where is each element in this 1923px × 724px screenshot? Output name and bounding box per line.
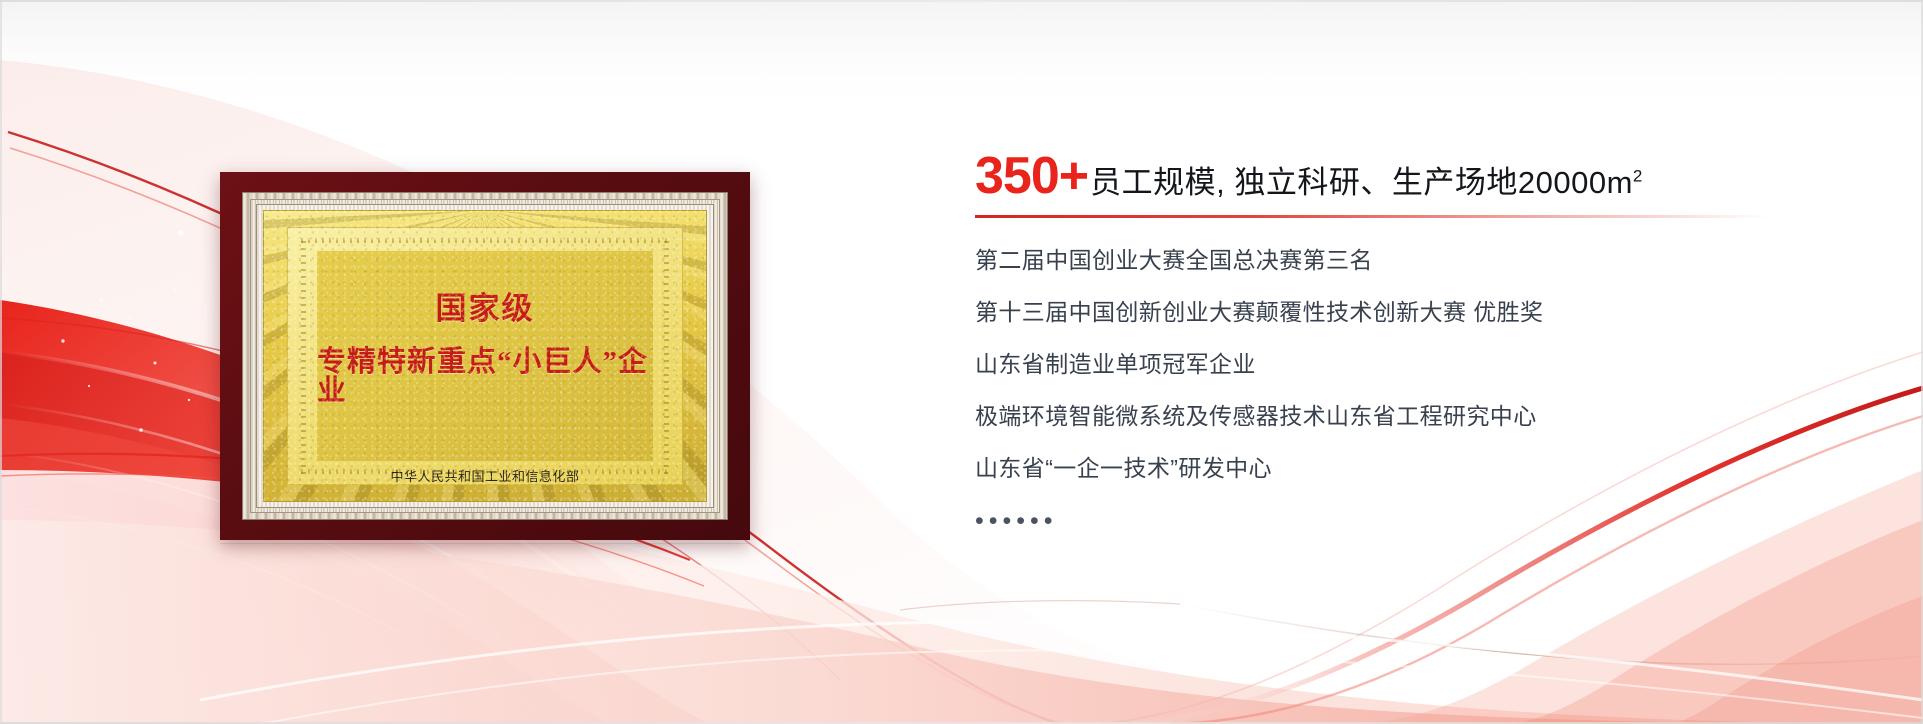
- award-item-2: 第十三届中国创新创业大赛颠覆性技术创新大赛 优胜奖: [975, 301, 1855, 324]
- plaque-gold-plate: 国家级 专精特新重点“小巨人”企业 中华人民共和国工业和信息化部 2024年12…: [263, 210, 707, 502]
- plaque-gold-mat: 国家级 专精特新重点“小巨人”企业 中华人民共和国工业和信息化部 2024年12…: [287, 227, 683, 485]
- award-list-ellipsis: ••••••: [975, 509, 1855, 534]
- headline: 350+ 员工规模, 独立科研、生产场地20000m2: [975, 150, 1855, 202]
- award-item-5: 山东省“一企一技术”研发中心: [975, 457, 1855, 480]
- plaque-braid-mid: 国家级 专精特新重点“小巨人”企业 中华人民共和国工业和信息化部 2024年12…: [250, 199, 720, 513]
- left-edge-line: [0, 0, 2, 724]
- award-plaque[interactable]: 国家级 专精特新重点“小巨人”企业 中华人民共和国工业和信息化部 2024年12…: [220, 172, 750, 540]
- plaque-issuer: 中华人民共和国工业和信息化部: [390, 466, 579, 485]
- top-edge-line: [0, 0, 1923, 2]
- headline-underline-rule: [975, 215, 1770, 218]
- award-item-3: 山东省制造业单项冠军企业: [975, 353, 1855, 376]
- headline-number: 350+: [975, 150, 1088, 202]
- content-column: 350+ 员工规模, 独立科研、生产场地20000m2 第二届中国创业大赛全国总…: [975, 150, 1855, 534]
- plaque-braid-outer: 国家级 专精特新重点“小巨人”企业 中华人民共和国工业和信息化部 2024年12…: [242, 192, 728, 520]
- plaque-face: 国家级 专精特新重点“小巨人”企业 中华人民共和国工业和信息化部 2024年12…: [317, 251, 653, 461]
- award-list: 第二届中国创业大赛全国总决赛第三名 第十三届中国创新创业大赛颠覆性技术创新大赛 …: [975, 249, 1855, 534]
- headline-superscript: 2: [1633, 167, 1643, 186]
- plaque-braid-inner: 国家级 专精特新重点“小巨人”企业 中华人民共和国工业和信息化部 2024年12…: [256, 204, 714, 508]
- headline-text-wrap: 员工规模, 独立科研、生产场地20000m2: [1090, 167, 1643, 198]
- plaque-date: 2024年12月: [448, 501, 521, 502]
- plaque-title: 国家级: [436, 293, 535, 324]
- award-item-1: 第二届中国创业大赛全国总决赛第三名: [975, 249, 1855, 272]
- banner-stage: 国家级 专精特新重点“小巨人”企业 中华人民共和国工业和信息化部 2024年12…: [0, 0, 1923, 724]
- award-item-4: 极端环境智能微系统及传感器技术山东省工程研究中心: [975, 405, 1855, 428]
- plaque-subtitle: 专精特新重点“小巨人”企业: [317, 348, 653, 406]
- plaque-frame: 国家级 专精特新重点“小巨人”企业 中华人民共和国工业和信息化部 2024年12…: [220, 172, 750, 540]
- headline-text: 员工规模, 独立科研、生产场地20000m: [1090, 165, 1633, 200]
